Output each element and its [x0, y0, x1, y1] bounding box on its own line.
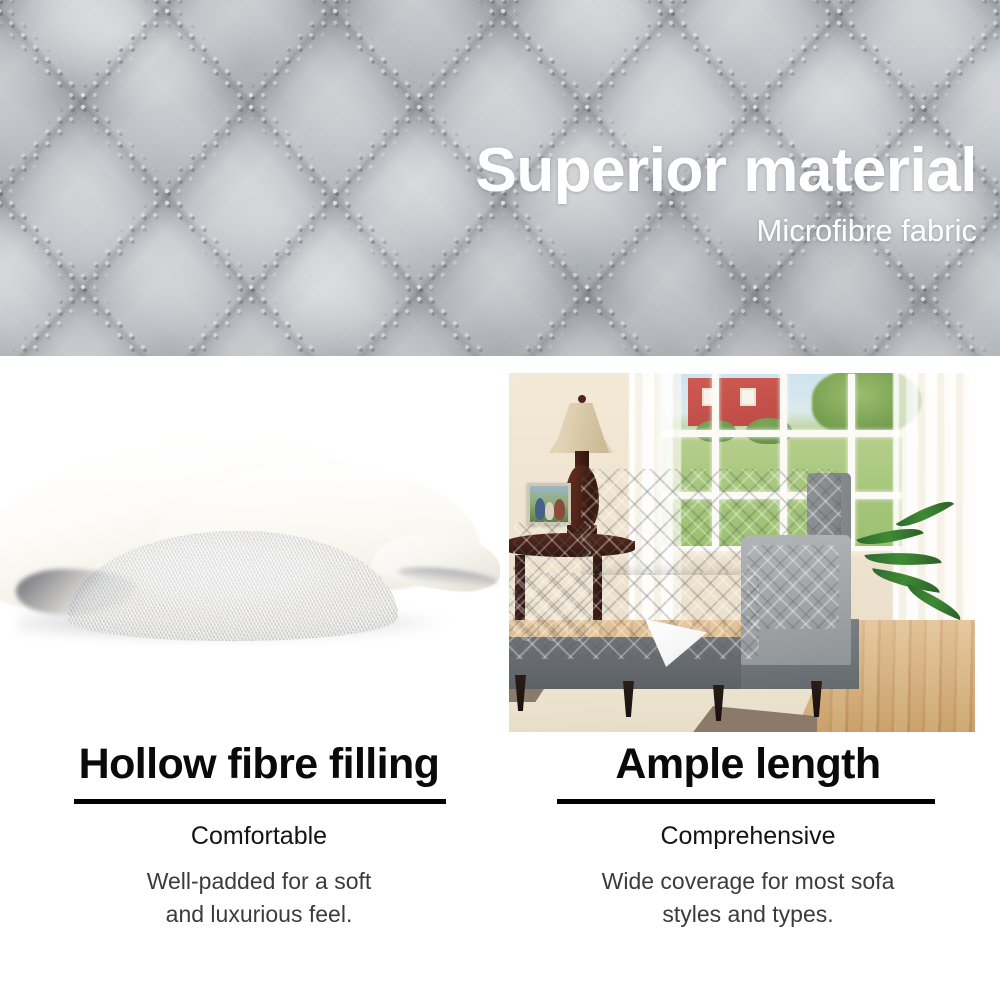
fibre-top-fade	[0, 373, 500, 493]
feature-columns: Hollow fibre filling Comfortable Well-pa…	[0, 742, 1000, 1000]
feature-title: Ample length	[546, 742, 950, 787]
feature-subtitle: Comfortable	[58, 822, 460, 851]
hero-title: Superior material	[476, 140, 977, 202]
feature-body-line-2: styles and types.	[546, 898, 950, 931]
product-feature-panel: Superior material Microfibre fabric	[0, 0, 1000, 1000]
lamp-finial	[578, 395, 586, 403]
feature-divider-rule	[74, 799, 446, 804]
hero-banner: Superior material Microfibre fabric	[0, 0, 1000, 356]
feature-body: Wide coverage for most sofa styles and t…	[546, 865, 950, 930]
sofa-cover-seat	[509, 573, 759, 659]
feature-body-line-1: Wide coverage for most sofa	[546, 865, 950, 898]
feature-column-ample-length: Ample length Comprehensive Wide coverage…	[546, 742, 950, 930]
hollow-fibre-photo	[0, 373, 500, 733]
feature-body-line-2: and luxurious feel.	[58, 898, 460, 931]
feature-subtitle: Comprehensive	[546, 822, 950, 851]
hero-text-block: Superior material Microfibre fabric	[476, 140, 977, 248]
sofa-cover-arm-right	[747, 545, 839, 629]
feature-body: Well-padded for a soft and luxurious fee…	[58, 865, 460, 930]
feature-title: Hollow fibre filling	[58, 742, 460, 787]
window-mullion-horizontal-1	[662, 430, 902, 437]
feature-column-hollow-fibre-filling: Hollow fibre filling Comfortable Well-pa…	[58, 742, 460, 930]
sofa-with-cover	[519, 469, 919, 699]
window-house-window-right	[740, 388, 756, 406]
photo-row	[0, 356, 1000, 738]
sofa-room-photo	[509, 373, 975, 732]
hero-subtitle: Microfibre fabric	[476, 214, 977, 248]
feature-divider-rule	[557, 799, 935, 804]
feature-body-line-1: Well-padded for a soft	[58, 865, 460, 898]
